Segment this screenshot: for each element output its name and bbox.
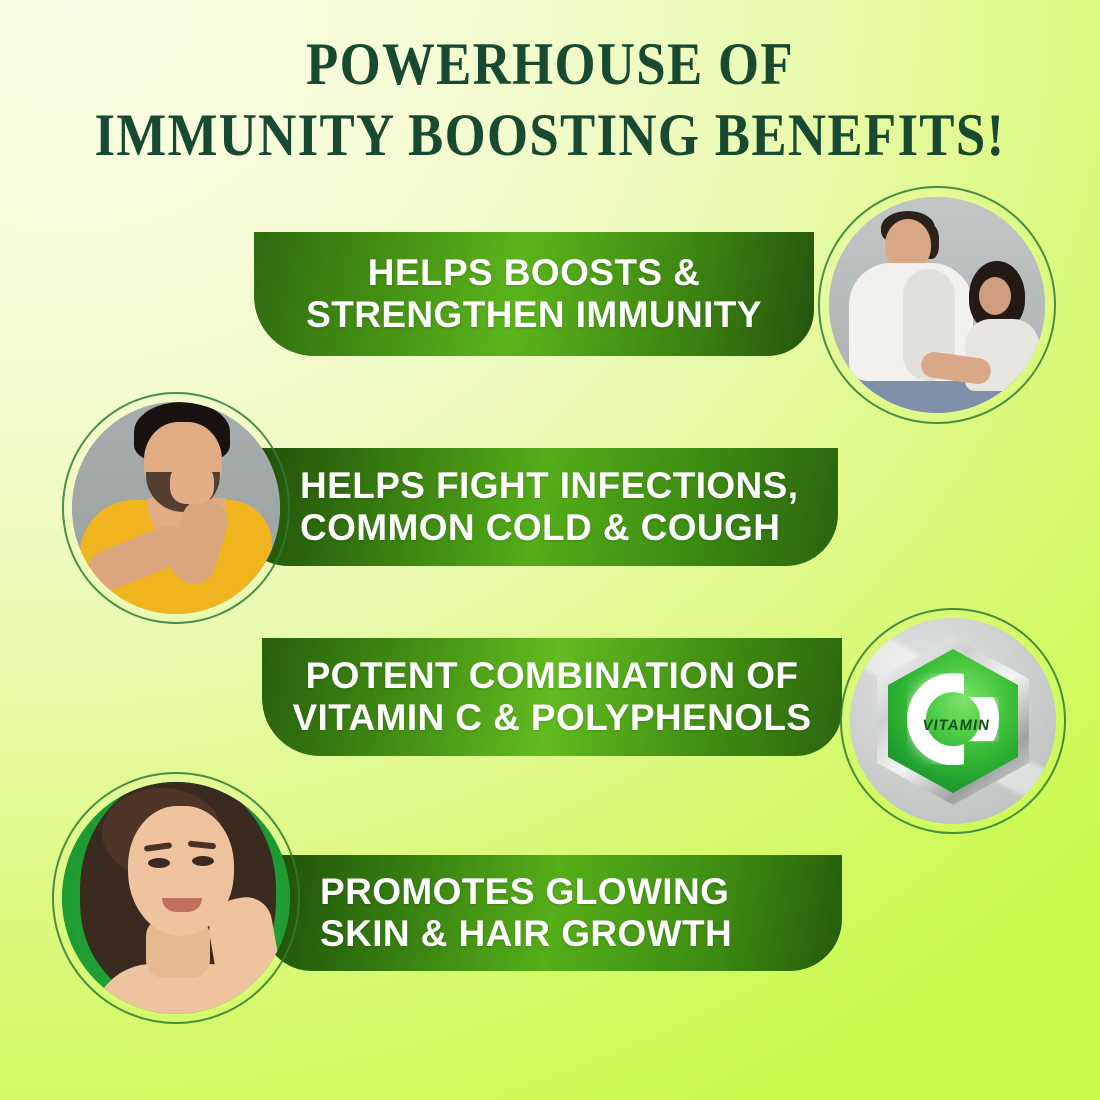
photo-frame-1	[829, 197, 1045, 413]
benefit-bar-infections: HELPS FIGHT INFECTIONS, COMMON COLD & CO…	[238, 448, 838, 566]
benefit-text-vitamin-c: POTENT COMBINATION OF VITAMIN C & POLYPH…	[292, 655, 811, 739]
benefit-text-immunity: HELPS BOOSTS & STRENGTHEN IMMUNITY	[306, 252, 762, 336]
mother-and-daughter-meditating-photo	[818, 186, 1056, 424]
benefit-text-infections: HELPS FIGHT INFECTIONS, COMMON COLD & CO…	[300, 465, 798, 549]
benefit-bar-skin-hair: PROMOTES GLOWING SKIN & HAIR GROWTH	[262, 855, 842, 971]
benefits-infographic-poster: POWERHOUSE OF IMMUNITY BOOSTING BENEFITS…	[0, 0, 1100, 1100]
glowing-skin-woman-photo	[52, 772, 300, 1024]
vitamin-label: VITAMIN	[921, 717, 991, 734]
benefit-bar-immunity: HELPS BOOSTS & STRENGTHEN IMMUNITY	[254, 232, 814, 356]
vitamin-c-badge-icon: VITAMIN	[840, 608, 1066, 834]
benefit-text-skin-hair: PROMOTES GLOWING SKIN & HAIR GROWTH	[320, 871, 732, 955]
page-title-line-1: POWERHOUSE OF	[66, 34, 1034, 95]
photo-frame-3: VITAMIN	[850, 618, 1056, 824]
benefit-bar-vitamin-c: POTENT COMBINATION OF VITAMIN C & POLYPH…	[262, 638, 842, 756]
page-title-line-2: IMMUNITY BOOSTING BENEFITS!	[66, 105, 1034, 166]
hexagon-badge: VITAMIN	[877, 637, 1029, 805]
page-title: POWERHOUSE OF IMMUNITY BOOSTING BENEFITS…	[0, 34, 1100, 166]
photo-frame-2	[72, 402, 280, 614]
photo-frame-4	[62, 782, 290, 1014]
coughing-man-photo	[62, 392, 290, 624]
